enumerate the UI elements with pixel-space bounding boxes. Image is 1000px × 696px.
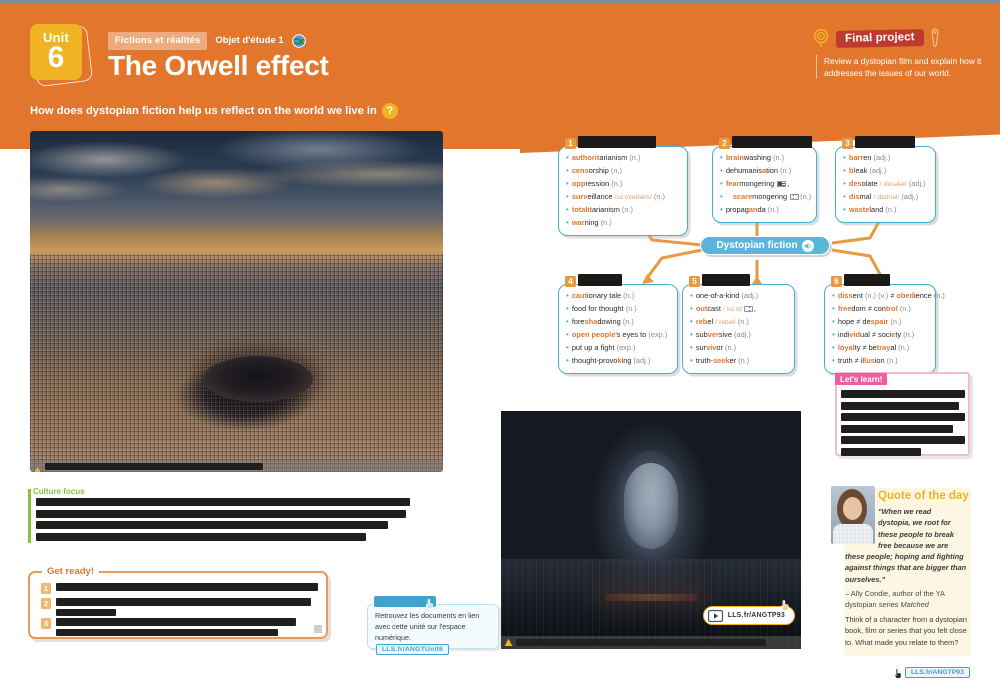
vocab-box-5: 5 one-of-a-kind (adj.) outcast /ˈkɑːst/,… xyxy=(682,284,795,374)
list-item: subversive (adj.) xyxy=(690,329,788,342)
speaker-icon[interactable] xyxy=(802,240,814,252)
textbook-page: Unit 6 Fictions et réalités Objet d'étud… xyxy=(0,0,1000,696)
page-bottom-strip xyxy=(0,688,1000,696)
vocab-box-3-number: 3 xyxy=(842,138,853,149)
list-item: cautionary tale (n.) xyxy=(566,290,671,303)
vocab-box-1: 1 authoritarianism (n.) censorship (n.) … xyxy=(558,146,688,236)
vocab-box-5-list: one-of-a-kind (adj.) outcast /ˈkɑːst/, r… xyxy=(690,290,788,368)
vocab-box-1-title-redacted xyxy=(578,136,656,148)
redacted-line xyxy=(841,448,921,456)
painting-credit xyxy=(30,460,443,472)
list-item: censorship (n.) xyxy=(566,165,681,178)
flag-us-icon xyxy=(777,181,786,187)
unit-badge: Unit 6 xyxy=(30,24,92,86)
objet-detude-label: Objet d'étude 1 xyxy=(215,35,283,46)
pencil-icon xyxy=(930,28,940,48)
redacted-line xyxy=(36,510,406,518)
vocab-box-3-list: barren (adj.) bleak (adj.) desolate /ˈde… xyxy=(843,152,929,217)
list-item: hope ≠ despair (n.) xyxy=(832,316,929,329)
quote-attribution: – Ally Condie, author of the YA dystopia… xyxy=(845,588,969,610)
list-item: one-of-a-kind (adj.) xyxy=(690,290,788,303)
numerique-label-redacted xyxy=(374,596,436,607)
page-title: The Orwell effect xyxy=(108,50,329,82)
caption-text-redacted xyxy=(516,639,766,646)
mindmap-center-label: Dystopian fiction xyxy=(716,240,797,251)
dystopian-video-thumbnail[interactable]: LLS.fr/ANGTP93 xyxy=(501,411,801,649)
vocabulary-mindmap: 1 authoritarianism (n.) censorship (n.) … xyxy=(552,138,952,363)
list-item: open people's eyes to (exp.) xyxy=(566,329,671,342)
vocab-box-2-title-redacted xyxy=(732,136,812,148)
list-item: truth ≠ illusion (n.) xyxy=(832,355,929,368)
resize-corner xyxy=(314,625,322,633)
get-ready-item-3: 3 xyxy=(41,618,296,636)
vocab-box-2-number: 2 xyxy=(719,138,730,149)
flag-uk-icon xyxy=(790,194,799,200)
item-number: 1 xyxy=(41,583,51,594)
mindmap-center-node[interactable]: Dystopian fiction xyxy=(700,236,830,255)
final-project-label: Final project xyxy=(836,29,924,48)
video-caption xyxy=(501,636,801,649)
redacted-line xyxy=(841,413,965,421)
list-item: loyalty ≠ betrayal (n.) xyxy=(832,342,929,355)
painting-crater xyxy=(203,356,313,402)
vocab-box-2: 2 brainwashing (n.) dehumanisation (n.) … xyxy=(712,146,817,223)
redacted-line xyxy=(36,521,388,529)
cursor-icon xyxy=(893,667,904,680)
vocab-box-6-list: dissent (n.) (v.) ≠ obedience (n.) freed… xyxy=(832,290,929,368)
cursor-icon xyxy=(780,599,791,612)
redacted-line xyxy=(56,629,278,637)
vocab-box-5-number: 5 xyxy=(689,276,700,287)
redacted-line xyxy=(841,402,959,410)
credit-text-redacted xyxy=(45,463,263,470)
vocab-box-2-list: brainwashing (n.) dehumanisation (n.) fe… xyxy=(720,152,810,217)
espace-numerique-box: Retrouvez les documents en lien avec cet… xyxy=(367,604,499,649)
quote-line-1: "When we read xyxy=(845,506,971,517)
culture-focus-section: Culture focus xyxy=(28,487,410,543)
redacted-line xyxy=(56,609,116,617)
list-item: food for thought (n.) xyxy=(566,303,671,316)
list-item: wasteland (n.) xyxy=(843,204,929,217)
list-item: authoritarianism (n.) xyxy=(566,152,681,165)
flag-uk-icon xyxy=(744,306,753,312)
final-project: Final project Review a dystopian film an… xyxy=(812,28,990,79)
vocab-box-4: 4 cautionary tale (n.) food for thought … xyxy=(558,284,678,374)
list-item: desolate /ˈdesələt/ (adj.) xyxy=(843,178,929,191)
video-link-text: LLS.fr/ANGTP93 xyxy=(728,612,785,619)
unit-number: 6 xyxy=(48,43,65,73)
warning-icon xyxy=(504,634,513,650)
quote-book-title: Matched xyxy=(900,600,928,609)
quote-line-rest: these people; hoping and fighting agains… xyxy=(845,551,971,585)
target-icon xyxy=(812,29,830,47)
quote-of-the-day-box: Quote of the day "When we read dystopia,… xyxy=(845,488,971,656)
list-item: warning (n.) xyxy=(566,217,681,230)
redacted-line xyxy=(36,498,410,506)
globe-icon xyxy=(292,34,306,48)
list-item: foreshadowing (n.) xyxy=(566,316,671,329)
final-project-body: Review a dystopian film and explain how … xyxy=(816,55,988,79)
vocab-box-6: 6 dissent (n.) (v.) ≠ obedience (n.) fre… xyxy=(824,284,936,374)
list-item: barren (adj.) xyxy=(843,152,929,165)
warning-icon xyxy=(33,462,42,471)
list-item: bleak (adj.) xyxy=(843,165,929,178)
vocab-box-4-number: 4 xyxy=(565,276,576,287)
item-number: 2 xyxy=(41,598,51,609)
vocab-box-1-number: 1 xyxy=(565,138,576,149)
get-ready-item-1: 1 xyxy=(41,583,318,594)
list-item: fearmongering , xyxy=(720,178,810,191)
get-ready-box: Get ready! 1 2 3 xyxy=(28,571,328,639)
vocab-box-3: 3 barren (adj.) bleak (adj.) desolate /ˈ… xyxy=(835,146,936,223)
theme-chip: Fictions et réalités xyxy=(108,32,207,50)
hand-pointer-icon xyxy=(425,596,434,607)
culture-focus-body xyxy=(36,498,410,544)
question-mark-icon: ? xyxy=(382,103,398,119)
guiding-question-text: How does dystopian fiction help us refle… xyxy=(30,105,377,117)
culture-focus-rule xyxy=(28,489,31,543)
lets-learn-label: Let's learn! xyxy=(835,373,887,385)
list-item: propaganda (n.) xyxy=(720,204,810,217)
list-item: scaremongering (n.) xyxy=(720,191,810,204)
list-item: truth-seeker (n.) xyxy=(690,355,788,368)
quote-line-4: free because we are xyxy=(845,540,971,551)
redacted-line xyxy=(841,390,965,398)
quote-attribution-text: – Ally Condie, author of the YA dystopia… xyxy=(845,589,945,609)
quote-text: "When we read dystopia, we root for thes… xyxy=(845,506,971,585)
vocab-box-6-number: 6 xyxy=(831,276,842,287)
list-item: oppression (n.) xyxy=(566,178,681,191)
guiding-question: How does dystopian fiction help us refle… xyxy=(30,103,398,119)
list-item: dissent (n.) (v.) ≠ obedience (n.) xyxy=(832,290,929,303)
quote-line-3: these people to break xyxy=(845,529,971,540)
list-item: freedom ≠ control (n.) xyxy=(832,303,929,316)
list-item: rebel /ˈrebəl/ (n.) xyxy=(690,316,788,329)
redacted-line xyxy=(841,425,953,433)
culture-focus-label: Culture focus xyxy=(31,487,87,496)
video-face-visual xyxy=(624,463,678,549)
redacted-line xyxy=(56,583,318,591)
vocab-box-6-title-redacted xyxy=(844,274,890,286)
quote-line-2: dystopia, we root for xyxy=(845,517,971,528)
list-item: brainwashing (n.) xyxy=(720,152,810,165)
redacted-line xyxy=(841,436,965,444)
numerique-text: Retrouvez les documents en lien avec cet… xyxy=(375,611,495,643)
vocab-box-1-list: authoritarianism (n.) censorship (n.) op… xyxy=(566,152,681,230)
list-item: dehumanisation (n.) xyxy=(720,165,810,178)
vocab-box-5-title-redacted xyxy=(702,274,750,286)
redacted-line xyxy=(36,533,366,541)
list-item: survivor (n.) xyxy=(690,342,788,355)
redacted-line xyxy=(56,598,311,606)
list-item: totalitarianism (n.) xyxy=(566,204,681,217)
dystopian-cityscape-painting xyxy=(30,131,443,472)
item-number: 3 xyxy=(41,618,51,629)
breadcrumb: Fictions et réalités Objet d'étude 1 xyxy=(108,32,306,50)
vocab-box-4-list: cautionary tale (n.) food for thought (n… xyxy=(566,290,671,368)
play-icon xyxy=(708,610,723,622)
list-item: thought-provoking (adj.) xyxy=(566,355,671,368)
lets-learn-box: Let's learn! xyxy=(835,372,970,456)
list-item: put up a fight (exp.) xyxy=(566,342,671,355)
quote-title: Quote of the day xyxy=(878,490,969,502)
vocab-box-4-title-redacted xyxy=(578,274,622,286)
list-item: outcast /ˈkɑːst/, xyxy=(690,303,788,316)
vocab-box-3-title-redacted xyxy=(855,136,915,148)
list-item: dismal /ˈdɪzməl/ (adj.) xyxy=(843,191,929,204)
quote-link-pill[interactable]: LLS.fr/ANGTP93 xyxy=(905,667,970,678)
numerique-link-pill[interactable]: LLS.fr/ANGTUnit6 xyxy=(376,644,449,655)
painting-sky xyxy=(30,131,443,261)
redacted-line xyxy=(56,618,296,626)
get-ready-label: Get ready! xyxy=(42,566,99,577)
quote-task: Think of a character from a dystopian bo… xyxy=(845,614,969,648)
list-item: surveillance /sɜːr/veɪləns/ (n.) xyxy=(566,191,681,204)
get-ready-item-2: 2 xyxy=(41,598,311,616)
video-link-button[interactable]: LLS.fr/ANGTP93 xyxy=(703,606,795,625)
lets-learn-body xyxy=(841,388,965,459)
list-item: individual ≠ society (n.) xyxy=(832,329,929,342)
